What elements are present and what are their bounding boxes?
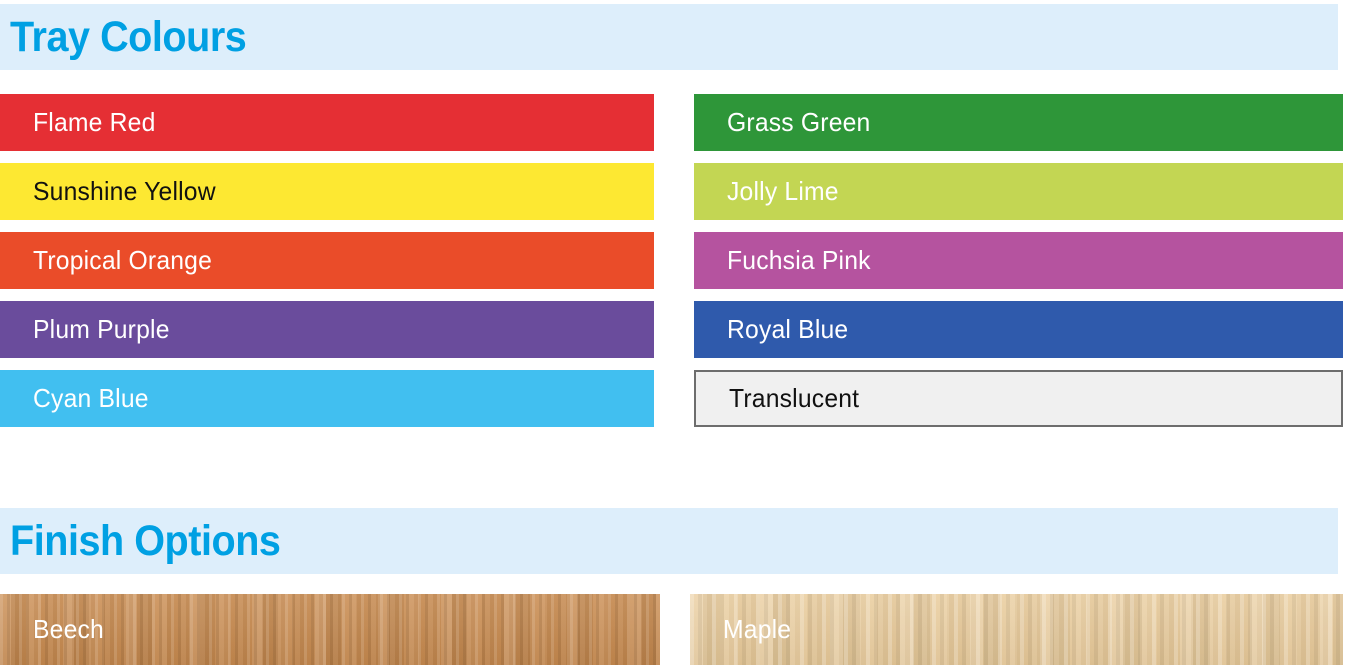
tray-colours-right-column: Grass Green Jolly Lime Fuchsia Pink Roya… bbox=[694, 94, 1343, 439]
colour-swatch-label: Jolly Lime bbox=[727, 176, 839, 207]
colour-swatch-label: Fuchsia Pink bbox=[727, 245, 871, 276]
colour-swatch-sunshine-yellow[interactable]: Sunshine Yellow bbox=[0, 163, 654, 220]
finish-options-right-column: Maple bbox=[690, 594, 1343, 665]
colour-swatch-royal-blue[interactable]: Royal Blue bbox=[694, 301, 1343, 358]
colour-swatch-label: Royal Blue bbox=[727, 314, 848, 345]
colour-and-finish-selector: Tray Colours Flame Red Sunshine Yellow T… bbox=[0, 0, 1347, 665]
colour-swatch-label: Flame Red bbox=[33, 107, 156, 138]
colour-swatch-label: Sunshine Yellow bbox=[33, 176, 216, 207]
colour-swatch-label: Translucent bbox=[729, 383, 859, 414]
section-title-finish-options: Finish Options bbox=[10, 520, 280, 563]
finish-swatch-label: Maple bbox=[723, 614, 791, 645]
section-title-tray-colours: Tray Colours bbox=[10, 16, 246, 59]
finish-swatch-maple[interactable]: Maple bbox=[690, 594, 1343, 665]
colour-swatch-plum-purple[interactable]: Plum Purple bbox=[0, 301, 654, 358]
colour-swatch-fuchsia-pink[interactable]: Fuchsia Pink bbox=[694, 232, 1343, 289]
colour-swatch-cyan-blue[interactable]: Cyan Blue bbox=[0, 370, 654, 427]
section-header-tray-colours: Tray Colours bbox=[0, 4, 1338, 70]
colour-swatch-flame-red[interactable]: Flame Red bbox=[0, 94, 654, 151]
colour-swatch-label: Cyan Blue bbox=[33, 383, 149, 414]
tray-colours-left-column: Flame Red Sunshine Yellow Tropical Orang… bbox=[0, 94, 654, 439]
finish-swatch-label: Beech bbox=[33, 614, 104, 645]
colour-swatch-jolly-lime[interactable]: Jolly Lime bbox=[694, 163, 1343, 220]
section-header-finish-options: Finish Options bbox=[0, 508, 1338, 574]
colour-swatch-label: Tropical Orange bbox=[33, 245, 212, 276]
colour-swatch-translucent[interactable]: Translucent bbox=[694, 370, 1343, 427]
finish-options-left-column: Beech bbox=[0, 594, 660, 665]
colour-swatch-grass-green[interactable]: Grass Green bbox=[694, 94, 1343, 151]
colour-swatch-label: Grass Green bbox=[727, 107, 870, 138]
colour-swatch-tropical-orange[interactable]: Tropical Orange bbox=[0, 232, 654, 289]
finish-swatch-beech[interactable]: Beech bbox=[0, 594, 660, 665]
colour-swatch-label: Plum Purple bbox=[33, 314, 170, 345]
